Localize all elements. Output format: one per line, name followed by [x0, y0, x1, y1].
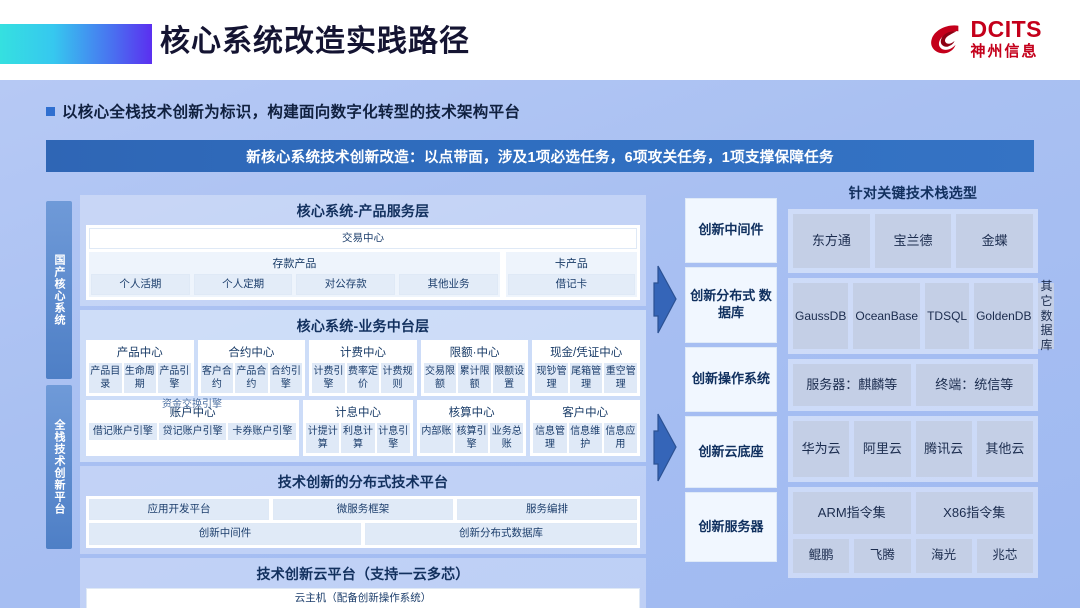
group-os-vendors: 服务器：麒麟等 终端：统信等	[788, 359, 1038, 411]
distributed-tech-platform: 技术创新的分布式技术平台 应用开发平台 微服务框架 服务编排 创新中间件 创新分…	[80, 466, 646, 553]
deposit-group-label: 存款产品	[91, 254, 498, 274]
vendor-tile[interactable]: 宝兰德	[875, 214, 952, 268]
logo-text-cn: 神州信息	[971, 44, 1043, 59]
center-item[interactable]: 限额设置	[493, 363, 526, 393]
center-item[interactable]: 客户合约	[201, 363, 234, 393]
center-item[interactable]: 信息维护	[569, 423, 602, 453]
chip-tile[interactable]: 鲲鹏	[793, 539, 849, 573]
vendor-tile[interactable]: 金蝶	[956, 214, 1033, 268]
slide-header: 核心系统改造实践路径 DCITS 神州信息	[0, 0, 1080, 80]
logo-text-en: DCITS	[971, 18, 1043, 41]
trade-center-cell[interactable]: 交易中心	[89, 228, 637, 249]
instruction-set-tile[interactable]: ARM指令集	[793, 492, 911, 534]
group-database-vendors: GaussDB OceanBase TDSQL GoldenDB 其它数据库	[788, 278, 1038, 354]
center-item[interactable]: 信息应用	[604, 423, 637, 453]
database-tile[interactable]: OceanBase	[853, 283, 920, 349]
center-item[interactable]: 卡券账户引擎	[228, 423, 296, 440]
instruction-set-tile[interactable]: X86指令集	[916, 492, 1034, 534]
category-innovative-middleware[interactable]: 创新中间件	[685, 198, 777, 263]
center-item[interactable]: 信息管理	[533, 423, 566, 453]
database-tile[interactable]: GaussDB	[793, 283, 848, 349]
right-panel-title: 针对关键技术栈选型	[788, 183, 1038, 203]
group-cloud-vendors: 华为云 阿里云 腾讯云 其他云	[788, 416, 1038, 482]
cloud-tile[interactable]: 华为云	[793, 421, 849, 477]
cloud-platform: 技术创新云平台（支持一云多芯） 云主机（配备创新操作系统） 弹性计算 云存储 云…	[80, 558, 646, 608]
tech-stack-selection-panel: 针对关键技术栈选型 东方通 宝兰德 金蝶 GaussDB OceanBase T…	[788, 183, 1038, 583]
chip-tile[interactable]: 海光	[916, 539, 972, 573]
business-layer-title: 核心系统-业务中台层	[86, 316, 640, 336]
innovation-category-column: 创新中间件 创新分布式 数据库 创新操作系统 创新云底座 创新服务器	[685, 198, 777, 566]
banner-text: 新核心系统技术创新改造：以点带面，涉及1项必选任务，6项攻关任务，1项支撑保障任…	[246, 146, 834, 167]
os-tile[interactable]: 终端：统信等	[916, 364, 1034, 406]
bullet-square-icon	[46, 107, 55, 116]
cloud-tile[interactable]: 其他云	[977, 421, 1033, 477]
product-service-layer: 核心系统-产品服务层 交易中心 存款产品 个人活期 个人定期 对公存款 其他业务	[80, 195, 646, 306]
center-card-cash-voucher[interactable]: 现金/凭证中心 现钞管理 尾箱管理 重空管理	[532, 340, 640, 396]
category-innovative-server[interactable]: 创新服务器	[685, 492, 777, 562]
center-item[interactable]: 核算引擎	[455, 423, 488, 453]
center-title: 客户中心	[533, 402, 637, 423]
dist-platform-title: 技术创新的分布式技术平台	[86, 472, 640, 492]
dist-platform-body: 应用开发平台 微服务框架 服务编排 创新中间件 创新分布式数据库	[86, 496, 640, 547]
dcits-logo: DCITS 神州信息	[927, 18, 1043, 59]
center-item[interactable]: 生命周期	[124, 363, 157, 393]
chip-tile[interactable]: 飞腾	[854, 539, 910, 573]
vendor-tile[interactable]: 东方通	[793, 214, 870, 268]
center-item[interactable]: 计费引擎	[312, 363, 345, 393]
database-tile[interactable]: 其它数据库	[1038, 283, 1054, 349]
center-card-limit[interactable]: 限额·中心 交易限额 累计限额 限额设置	[421, 340, 529, 396]
center-item[interactable]: 交易限额	[424, 363, 457, 393]
subtitle-text: 以核心全栈技术创新为标识，构建面向数字化转型的技术架构平台	[62, 100, 520, 122]
center-title: 限额·中心	[424, 342, 526, 363]
center-item[interactable]: 产品引擎	[158, 363, 191, 393]
category-innovative-distributed-db[interactable]: 创新分布式 数据库	[685, 267, 777, 343]
cloud-tile[interactable]: 腾讯云	[916, 421, 972, 477]
chip-tile[interactable]: 兆芯	[977, 539, 1033, 573]
center-title: 产品中心	[89, 342, 191, 363]
center-item[interactable]: 合约引擎	[270, 363, 303, 393]
deposit-item-0[interactable]: 个人活期	[91, 274, 190, 295]
center-card-customer[interactable]: 客户中心 信息管理 信息维护 信息应用	[530, 400, 640, 456]
category-innovative-os[interactable]: 创新操作系统	[685, 347, 777, 412]
center-card-interest[interactable]: 计息中心 计提计算 利息计算 计息引擎	[303, 400, 413, 456]
dist-item-3[interactable]: 创新中间件	[89, 523, 361, 544]
center-item[interactable]: 计费规则	[381, 363, 414, 393]
architecture-stack: 核心系统-产品服务层 交易中心 存款产品 个人活期 个人定期 对公存款 其他业务	[80, 195, 646, 608]
center-card-product[interactable]: 产品中心 产品目录 生命周期 产品引擎	[86, 340, 194, 396]
center-item[interactable]: 重空管理	[604, 363, 637, 393]
center-item[interactable]: 产品合约	[235, 363, 268, 393]
dist-item-2[interactable]: 服务编排	[457, 499, 637, 520]
database-tile[interactable]: TDSQL	[925, 283, 969, 349]
center-item[interactable]: 尾箱管理	[570, 363, 603, 393]
center-item[interactable]: 利息计算	[341, 423, 374, 453]
highlight-banner: 新核心系统技术创新改造：以点带面，涉及1项必选任务，6项攻关任务，1项支撑保障任…	[46, 140, 1034, 172]
architecture-left-panel: 国产核心系统 全栈技术创新平台 核心系统-产品服务层 交易中心 存款产品 个人活…	[46, 195, 646, 555]
card-item-0[interactable]: 借记卡	[508, 274, 635, 295]
business-row-2: 账户中心 借记账户引擎 贷记账户引擎 卡券账户引擎 资金交换引擎 计息中心 计提…	[86, 400, 640, 456]
center-item[interactable]: 累计限额	[458, 363, 491, 393]
center-item[interactable]: 业务总账	[490, 423, 523, 453]
center-item[interactable]: 内部账	[420, 423, 453, 453]
header-accent-bar	[0, 24, 152, 64]
center-item[interactable]: 现钞管理	[535, 363, 568, 393]
center-title: 现金/凭证中心	[535, 342, 637, 363]
product-layer-title: 核心系统-产品服务层	[86, 201, 640, 221]
center-item[interactable]: 费率定价	[347, 363, 380, 393]
cloud-host-cell[interactable]: 云主机（配备创新操作系统）	[86, 588, 640, 608]
slide-root: 核心系统改造实践路径 DCITS 神州信息 以核心全栈技术创新为标识，构建面向数…	[0, 0, 1080, 608]
group-middleware-vendors: 东方通 宝兰德 金蝶	[788, 209, 1038, 273]
flow-arrow-icon-2	[652, 400, 682, 495]
cloud-platform-title: 技术创新云平台（支持一云多芯）	[86, 564, 640, 584]
center-card-accounting[interactable]: 核算中心 内部账 核算引擎 业务总账	[417, 400, 527, 456]
section-subtitle: 以核心全栈技术创新为标识，构建面向数字化转型的技术架构平台	[46, 100, 520, 122]
center-item[interactable]: 贷记账户引擎	[159, 423, 227, 440]
center-item[interactable]: 借记账户引擎	[89, 423, 157, 440]
flow-arrow-icon-1	[652, 252, 682, 347]
database-tile[interactable]: GoldenDB	[974, 283, 1033, 349]
center-title: 合约中心	[201, 342, 303, 363]
center-item[interactable]: 计提计算	[306, 423, 339, 453]
center-title: 计息中心	[306, 402, 410, 423]
center-card-billing[interactable]: 计费中心 计费引擎 费率定价 计费规则	[309, 340, 417, 396]
deposit-item-3[interactable]: 其他业务	[399, 274, 498, 295]
business-middle-layer: 核心系统-业务中台层 产品中心 产品目录 生命周期 产品引擎 合约中心 客户	[80, 310, 646, 462]
overlay-label-fund-exchange-engine: 资金交换引擎	[138, 398, 246, 411]
group-chip-vendors: ARM指令集 X86指令集 鲲鹏 飞腾 海光 兆芯	[788, 487, 1038, 578]
card-group-label: 卡产品	[508, 254, 635, 274]
dist-item-0[interactable]: 应用开发平台	[89, 499, 269, 520]
business-row-1: 产品中心 产品目录 生命周期 产品引擎 合约中心 客户合约 产品合约 合约引擎	[86, 340, 640, 396]
center-card-contract[interactable]: 合约中心 客户合约 产品合约 合约引擎	[198, 340, 306, 396]
dist-item-4[interactable]: 创新分布式数据库	[365, 523, 637, 544]
center-item[interactable]: 产品目录	[89, 363, 122, 393]
center-title: 计费中心	[312, 342, 414, 363]
rail-label-domestic-core: 国产核心系统	[46, 201, 72, 379]
center-card-account[interactable]: 账户中心 借记账户引擎 贷记账户引擎 卡券账户引擎 资金交换引擎	[86, 400, 299, 456]
rail-label-fullstack-platform: 全栈技术创新平台	[46, 385, 72, 549]
deposit-item-1[interactable]: 个人定期	[194, 274, 293, 295]
deposit-item-2[interactable]: 对公存款	[296, 274, 395, 295]
center-item[interactable]: 计息引擎	[377, 423, 410, 453]
page-title: 核心系统改造实践路径	[160, 20, 470, 64]
cloud-tile[interactable]: 阿里云	[854, 421, 910, 477]
dcits-mark-icon	[927, 20, 965, 58]
product-layer-body: 交易中心 存款产品 个人活期 个人定期 对公存款 其他业务	[86, 225, 640, 300]
category-innovative-cloud-base[interactable]: 创新云底座	[685, 416, 777, 488]
os-tile[interactable]: 服务器：麒麟等	[793, 364, 911, 406]
dist-item-1[interactable]: 微服务框架	[273, 499, 453, 520]
center-title: 核算中心	[420, 402, 524, 423]
